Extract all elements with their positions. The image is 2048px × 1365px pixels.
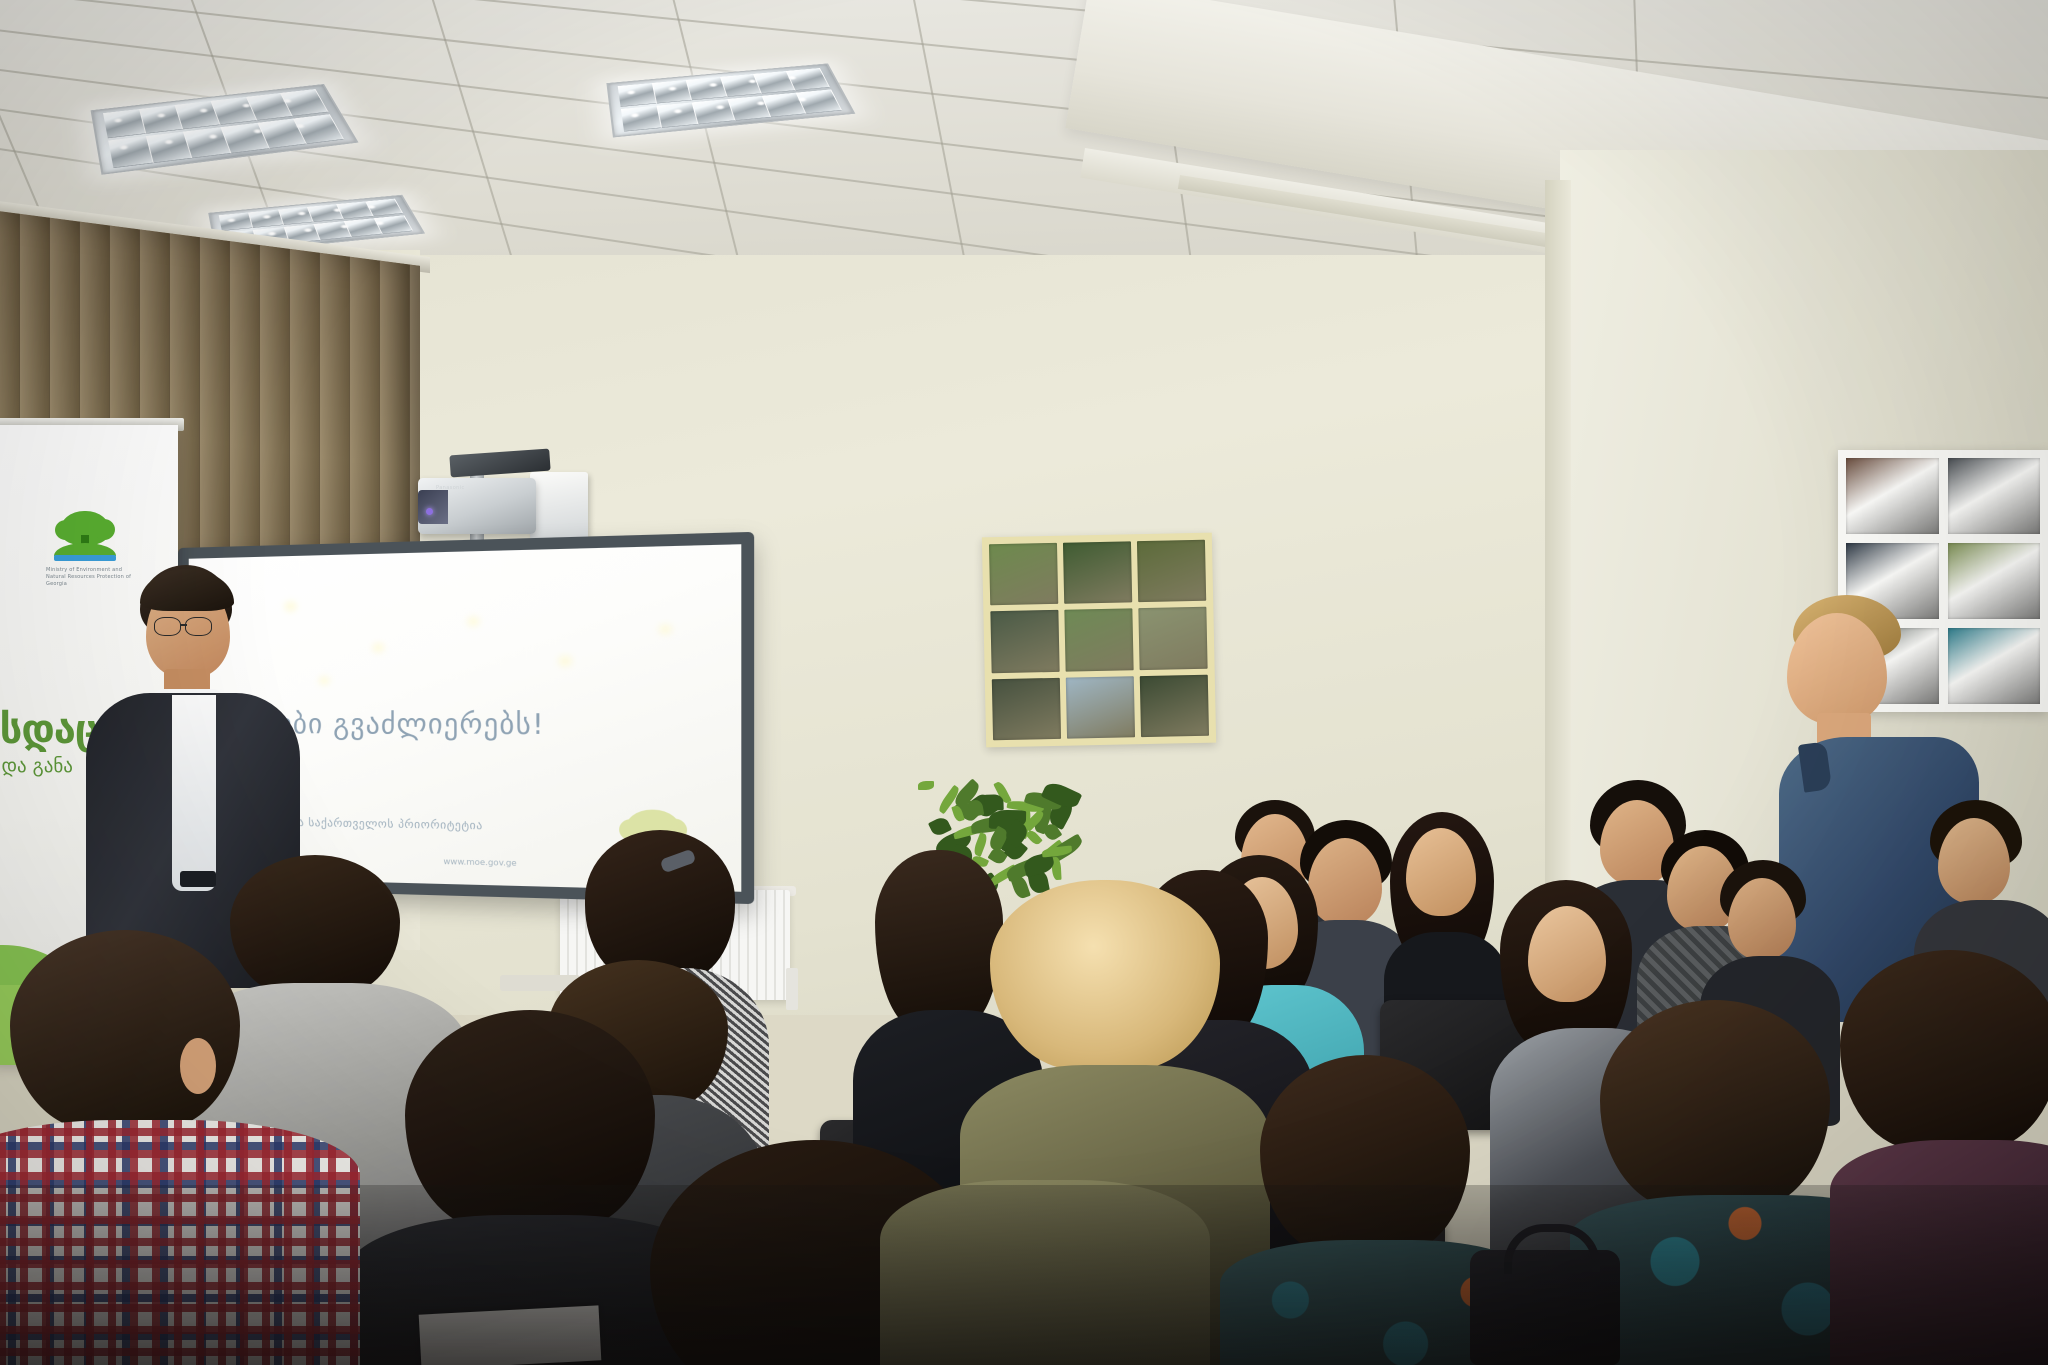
projector-power-indicator-icon (426, 508, 433, 515)
light-glint (757, 101, 765, 105)
plant-leaf (984, 794, 1004, 811)
ministry-tree-logo (54, 511, 116, 561)
light-glint (716, 105, 724, 109)
tree-water-icon (54, 555, 116, 561)
slide-url: www.moe.gov.ge (443, 857, 516, 868)
aerial-photo-tile (1948, 458, 2041, 534)
photo-grid-tile (989, 543, 1058, 606)
plant-leaf (918, 781, 934, 790)
photo-grid-tile (1138, 607, 1207, 670)
photo-grid-tile (1064, 609, 1133, 672)
presenter-shirt-front (172, 695, 216, 891)
light-louver-cell (249, 209, 284, 228)
light-glint (798, 97, 807, 101)
photo-grid-tile (992, 677, 1061, 740)
projection-hotspot (372, 643, 384, 653)
projection-hotspot (319, 676, 330, 685)
light-louver-cell (618, 83, 657, 107)
light-louver-cell (103, 109, 146, 138)
photo-grid-tile (990, 610, 1059, 673)
light-louver-cell (652, 80, 692, 104)
presenter-glasses-icon (185, 617, 212, 636)
photo-grid-tile (1066, 676, 1135, 739)
light-louver-cell (621, 106, 662, 132)
plant-leaf (972, 832, 989, 857)
photo-grid-poster (982, 533, 1216, 748)
projector-lens (418, 490, 448, 524)
foreground-shadow (0, 1185, 2048, 1365)
light-louver-cell (219, 212, 253, 231)
presenter-glasses-icon (154, 617, 181, 636)
presenter-hairline (140, 569, 234, 611)
radiator-valve (786, 968, 798, 1010)
photo-grid-tile (1140, 674, 1209, 737)
light-louver-cell (108, 136, 153, 168)
light-louver-cell (657, 102, 699, 128)
projection-hotspot (558, 655, 572, 667)
photo-grid-tile (1137, 540, 1206, 603)
presenter-belt (180, 871, 216, 887)
presenter-glasses-bridge-icon (180, 624, 187, 626)
attendee-ear (180, 1038, 216, 1094)
photograph-scene: Panasonic ხვები გვაძლიერებს! ბუნების დაც… (0, 0, 2048, 1365)
photo-grid-tile (1063, 541, 1132, 604)
banner-subline: ისა და განა (0, 755, 73, 777)
projector-cowl (530, 472, 588, 540)
aerial-photo-tile (1846, 458, 1939, 534)
